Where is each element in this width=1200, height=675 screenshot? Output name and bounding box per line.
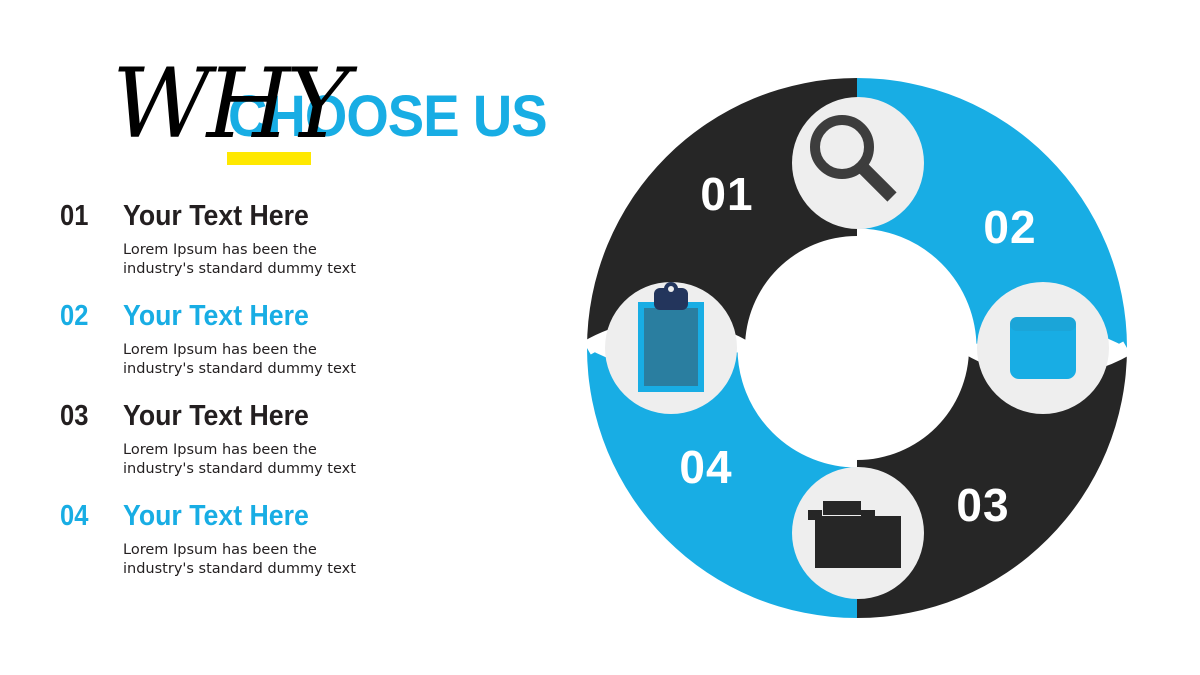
icon-badge-02[interactable] [977, 282, 1109, 414]
list-item-title: Your Text Here [123, 200, 309, 233]
title-underline-accent [227, 152, 311, 165]
list-item-description: Lorem Ipsum has been the industry's stan… [123, 341, 403, 378]
list-item-title: Your Text Here [123, 400, 309, 433]
list-item-title: Your Text Here [123, 500, 309, 533]
list-item-number: 04 [60, 500, 113, 533]
list-item[interactable]: 03 Your Text Here Lorem Ipsum has been t… [60, 400, 460, 500]
title-main-word: CHOOSE US [228, 88, 547, 146]
list-item-description: Lorem Ipsum has been the industry's stan… [123, 441, 403, 478]
list-item-title: Your Text Here [123, 300, 309, 333]
list-item-description: Lorem Ipsum has been the industry's stan… [123, 541, 403, 578]
description-line: Lorem Ipsum has been the [123, 441, 403, 460]
list-item[interactable]: 04 Your Text Here Lorem Ipsum has been t… [60, 500, 460, 600]
description-line: Lorem Ipsum has been the [123, 241, 403, 260]
segment-number-01: 01 [700, 168, 753, 220]
list-item-number: 01 [60, 200, 113, 233]
list-item[interactable]: 02 Your Text Here Lorem Ipsum has been t… [60, 300, 460, 400]
window-icon [1010, 317, 1076, 379]
description-line: industry's standard dummy text [123, 560, 403, 579]
cycle-diagram: 01 02 03 04 [570, 55, 1150, 645]
left-content-panel: CHOOSE US WHY 01 Your Text Here Lorem Ip… [0, 0, 560, 675]
description-line: industry's standard dummy text [123, 360, 403, 379]
list-item-number: 03 [60, 400, 113, 433]
slide-root: CHOOSE US WHY 01 Your Text Here Lorem Ip… [0, 0, 1200, 675]
segment-number-04: 04 [679, 441, 732, 493]
icon-badge-03[interactable] [792, 467, 924, 599]
list-item-heading: 02 Your Text Here [60, 300, 460, 333]
description-line: Lorem Ipsum has been the [123, 341, 403, 360]
list-item-description: Lorem Ipsum has been the industry's stan… [123, 241, 403, 278]
icon-badge-04[interactable] [605, 282, 737, 414]
list-item-heading: 01 Your Text Here [60, 200, 460, 233]
segment-number-03: 03 [956, 479, 1009, 531]
list-item-number: 02 [60, 300, 113, 333]
list-item-heading: 03 Your Text Here [60, 400, 460, 433]
description-line: industry's standard dummy text [123, 260, 403, 279]
segment-number-02: 02 [983, 201, 1036, 253]
feature-list: 01 Your Text Here Lorem Ipsum has been t… [60, 200, 460, 600]
list-item[interactable]: 01 Your Text Here Lorem Ipsum has been t… [60, 200, 460, 300]
description-line: industry's standard dummy text [123, 460, 403, 479]
description-line: Lorem Ipsum has been the [123, 541, 403, 560]
list-item-heading: 04 Your Text Here [60, 500, 460, 533]
icon-badge-01[interactable] [792, 97, 924, 229]
